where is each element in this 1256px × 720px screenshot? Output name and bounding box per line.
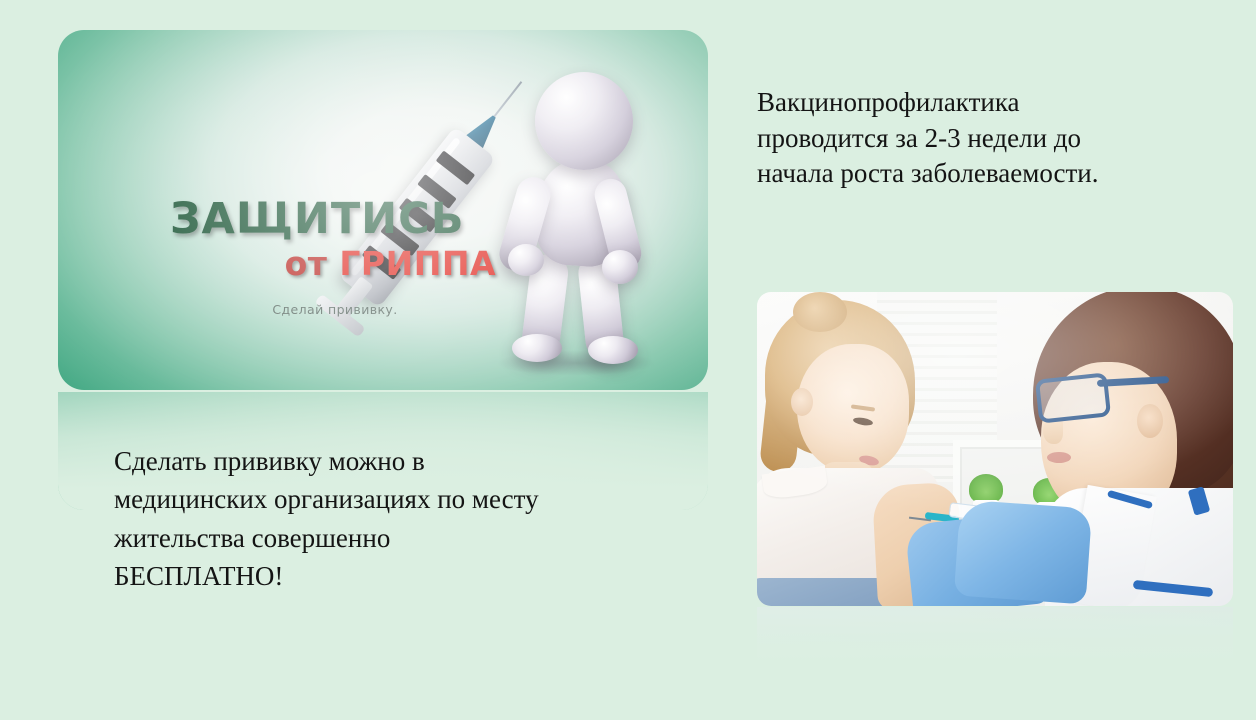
text-line: жительства совершенно <box>114 519 674 557</box>
syringe-needle <box>491 81 522 120</box>
text-line: Вакцинопрофилактика <box>757 85 1197 121</box>
figure-hand-left <box>508 244 544 276</box>
photo-reflection-mirror <box>757 607 1233 669</box>
poster-container[interactable]: ЗАЩИТИСЬ от ГРИППА Сделай прививку. <box>58 30 708 390</box>
photo-container[interactable] <box>757 292 1233 606</box>
poster-subheadline-word: ГРИППА <box>339 244 496 283</box>
poster-text-block: ЗАЩИТИСЬ от ГРИППА Сделай прививку. <box>170 198 500 317</box>
text-line: Сделать прививку можно в <box>114 442 674 480</box>
poster-subheadline: от ГРИППА <box>170 247 500 280</box>
text-line: медицинских организациях по месту <box>114 480 674 518</box>
photo-reflection <box>757 607 1233 669</box>
figure-foot-right <box>588 336 638 364</box>
figure-foot-left <box>512 334 562 362</box>
vaccination-photo <box>757 292 1233 606</box>
text-line: проводится за 2-3 недели до <box>757 121 1197 157</box>
poster-subheadline-prefix: от <box>285 244 328 283</box>
text-block-top-right: Вакцинопрофилактика проводится за 2-3 не… <box>757 85 1197 192</box>
text-block-bottom-left: Сделать прививку можно в медицинских орг… <box>114 442 674 595</box>
slide-canvas: ЗАЩИТИСЬ от ГРИППА Сделай прививку. <box>0 0 1256 720</box>
poster-image: ЗАЩИТИСЬ от ГРИППА Сделай прививку. <box>58 30 708 390</box>
photo-reflection-fade <box>757 607 1233 669</box>
text-line: начала роста заболеваемости. <box>757 156 1197 192</box>
poster-tagline: Сделай прививку. <box>170 302 500 317</box>
text-line: БЕСПЛАТНО! <box>114 557 674 595</box>
photo-light-overlay <box>757 292 1233 606</box>
poster-headline: ЗАЩИТИСЬ <box>170 198 500 241</box>
figure-hand-right <box>602 250 638 284</box>
